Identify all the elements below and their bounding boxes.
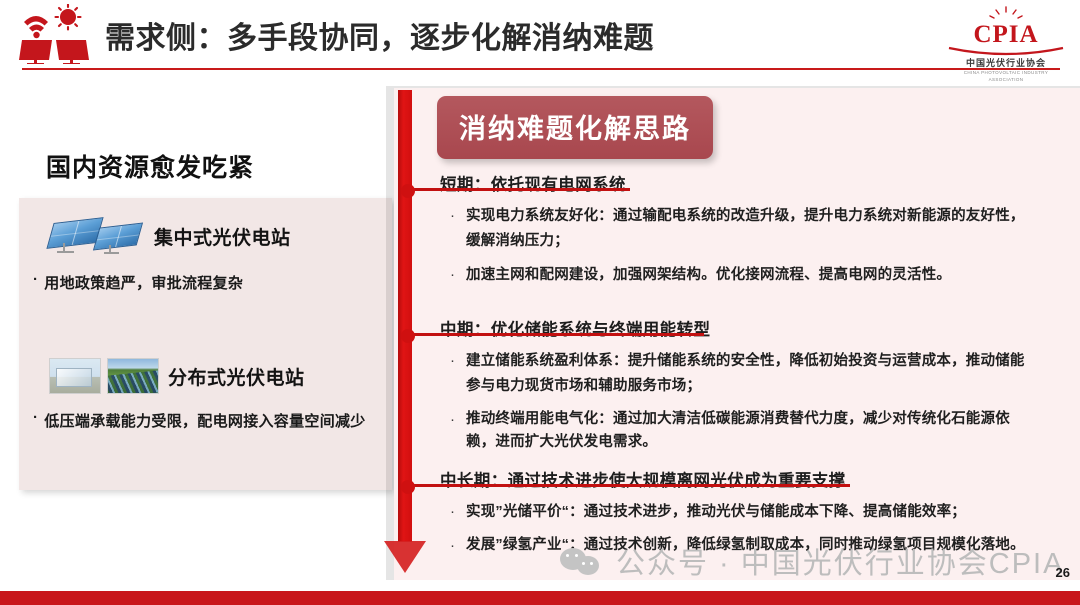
section-mid-term-items: · 建立储能系统盈利体系：提升储能系统的安全性，降低初始投资与运营成本，推动储能…	[440, 349, 1050, 454]
bullet-dot-icon: ·	[450, 204, 455, 254]
bullet-dot-icon: ·	[33, 410, 38, 431]
distributed-bullet-text: 低压端承载能力受限，配电网接入容量空间减少	[44, 410, 365, 431]
list-item-text: 加速主网和配网建设，加强网架结构。优化接网流程、提高电网的灵活性。	[466, 263, 951, 288]
distributed-label: 分布式光伏电站	[168, 363, 305, 390]
bullet-dot-icon: ·	[450, 349, 455, 399]
distributed-bullet: · 低压端承载能力受限，配电网接入容量空间减少	[19, 410, 392, 431]
cpia-logo: CPIA 中国光伏行业协会 CHINA PHOTOVOLTAIC INDUSTR…	[946, 6, 1066, 64]
slide: 需求侧：多手段协同，逐步化解消纳难题 CPIA 中国光伏行业协会 CHINA P…	[0, 0, 1080, 605]
list-item-text: 发展”绿氢产业“：通过技术创新，降低绿氢制取成本，同时推动绿氢项目规模化落地。	[466, 534, 1025, 558]
timeline-node-long	[401, 480, 415, 494]
list-item: · 建立储能系统盈利体系：提升储能系统的安全性，降低初始投资与运营成本，推动储能…	[440, 349, 1050, 399]
centralized-bullet: · 用地政策趋严，审批流程复杂	[19, 272, 392, 293]
left-block-distributed: 分布式光伏电站 · 低压端承载能力受限，配电网接入容量空间减少	[19, 358, 392, 431]
centralized-label: 集中式光伏电站	[154, 223, 291, 250]
bullet-dot-icon: ·	[450, 408, 455, 454]
list-item: · 实现”光储平价“：通过技术进步，推动光伏与储能成本下降、提高储能效率；	[440, 500, 1050, 525]
section-mid-term-title: 中期：优化储能系统与终端用能转型	[440, 316, 1050, 340]
footer-bar	[0, 591, 1080, 605]
section-long-term-items: · 实现”光储平价“：通过技术进步，推动光伏与储能成本下降、提高储能效率； · …	[440, 500, 1050, 558]
list-item-text: 建立储能系统盈利体系：提升储能系统的安全性，降低初始投资与运营成本，推动储能参与…	[466, 349, 1032, 399]
centralized-row: 集中式光伏电站	[19, 216, 392, 256]
bullet-dot-icon: ·	[450, 500, 455, 525]
section-mid-term: 中期：优化储能系统与终端用能转型 · 建立储能系统盈利体系：提升储能系统的安全性…	[440, 316, 1050, 463]
list-item: · 实现电力系统友好化：通过输配电系统的改造升级，提升电力系统对新能源的友好性，…	[440, 204, 1050, 254]
solar-farm-photo-icon	[107, 358, 159, 394]
section-short-term-items: · 实现电力系统友好化：通过输配电系统的改造升级，提升电力系统对新能源的友好性，…	[440, 204, 1050, 288]
bullet-dot-icon: ·	[450, 534, 455, 558]
bullet-dot-icon: ·	[450, 263, 455, 288]
section-long-term: 中长期：通过技术进步使大规模离网光伏成为重要支撑 · 实现”光储平价“：通过技术…	[440, 467, 1050, 567]
list-item-text: 实现”光储平价“：通过技术进步，推动光伏与储能成本下降、提高储能效率；	[466, 500, 966, 525]
bullet-dot-icon: ·	[33, 272, 38, 293]
solar-panel-wifi-sun-icon	[16, 4, 92, 64]
timeline-rule-long	[412, 484, 850, 487]
solar-array-icon	[49, 216, 145, 256]
right-panel-badge: 消纳难题化解思路	[437, 96, 713, 159]
list-item: · 加速主网和配网建设，加强网架结构。优化接网流程、提高电网的灵活性。	[440, 263, 1050, 288]
timeline-spine	[398, 90, 412, 542]
right-panel-badge-text: 消纳难题化解思路	[459, 114, 691, 144]
section-long-term-title: 中长期：通过技术进步使大规模离网光伏成为重要支撑	[440, 467, 1050, 491]
greenhouse-photo-icon	[49, 358, 101, 394]
list-item: · 推动终端用能电气化：通过加大清洁低碳能源消费替代力度，减少对传统化石能源依赖…	[440, 408, 1050, 454]
section-short-term-title: 短期：依托现有电网系统	[440, 171, 1050, 195]
timeline-node-short	[401, 184, 415, 198]
timeline-arrow-icon	[384, 541, 426, 573]
left-info-card: 集中式光伏电站 · 用地政策趋严，审批流程复杂 分布式光伏电站 · 低压端承载能…	[19, 198, 392, 490]
cpia-wordmark: CPIA	[946, 22, 1066, 48]
distributed-row: 分布式光伏电站	[19, 358, 392, 394]
left-section-heading: 国内资源愈发吃紧	[46, 148, 254, 184]
page-title: 需求侧：多手段协同，逐步化解消纳难题	[105, 13, 654, 57]
cpia-english-name: CHINA PHOTOVOLTAIC INDUSTRY ASSOCIATION	[946, 69, 1066, 83]
header-divider	[22, 68, 1060, 70]
timeline-rule-mid	[412, 333, 704, 336]
list-item-text: 实现电力系统友好化：通过输配电系统的改造升级，提升电力系统对新能源的友好性，缓解…	[466, 204, 1032, 254]
centralized-bullet-text: 用地政策趋严，审批流程复杂	[44, 272, 243, 293]
list-item: · 发展”绿氢产业“：通过技术创新，降低绿氢制取成本，同时推动绿氢项目规模化落地…	[440, 534, 1050, 558]
list-item-text: 推动终端用能电气化：通过加大清洁低碳能源消费替代力度，减少对传统化石能源依赖，进…	[466, 408, 1032, 454]
timeline-node-mid	[401, 329, 415, 343]
slide-header: 需求侧：多手段协同，逐步化解消纳难题 CPIA 中国光伏行业协会 CHINA P…	[0, 0, 1080, 72]
timeline-rule-short	[412, 188, 630, 191]
page-number: 26	[1056, 565, 1070, 580]
left-block-centralized: 集中式光伏电站 · 用地政策趋严，审批流程复杂	[19, 216, 392, 293]
